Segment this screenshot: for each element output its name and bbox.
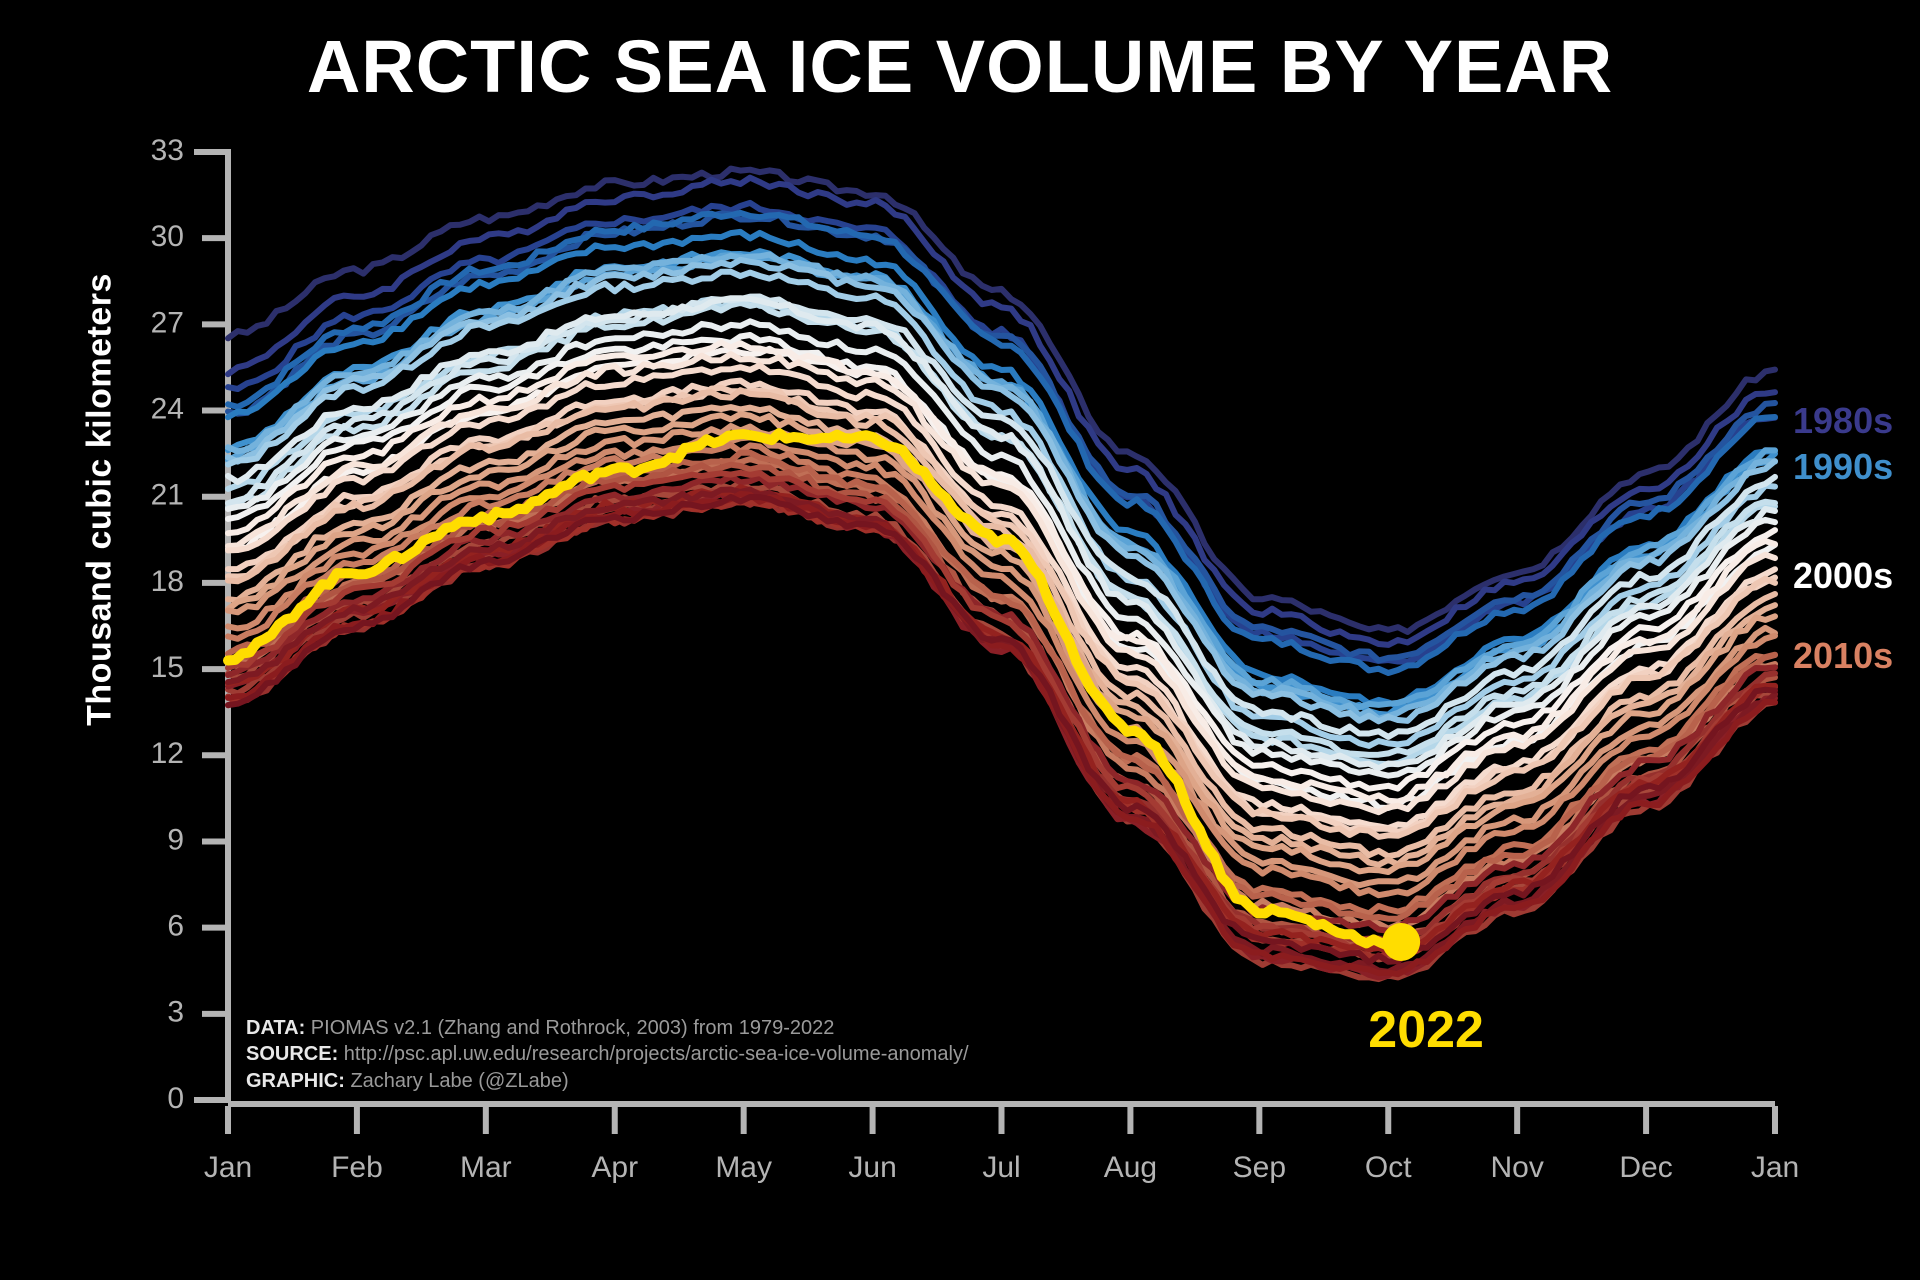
x-axis-tick-label: May xyxy=(715,1151,772,1184)
x-axis-tick-label: Aug xyxy=(1104,1151,1157,1184)
legend-label-2010s: 2010s xyxy=(1793,635,1893,676)
legend-label-2000s: 2000s xyxy=(1793,555,1893,596)
chart-canvas: ARCTIC SEA ICE VOLUME BY YEAR Thousand c… xyxy=(0,0,1920,1280)
y-axis-tick-label: 3 xyxy=(167,996,184,1029)
credits-block: DATA: PIOMAS v2.1 (Zhang and Rothrock, 2… xyxy=(246,1015,969,1094)
x-axis-tick-label: Jan xyxy=(204,1151,252,1184)
credits-data-key: DATA: xyxy=(246,1017,305,1039)
y-axis-tick-label: 15 xyxy=(151,651,184,684)
y-axis-tick-label: 18 xyxy=(151,565,184,598)
y-axis-tick-label: 12 xyxy=(151,737,184,770)
x-axis-tick-label: Nov xyxy=(1490,1151,1543,1184)
y-axis-tick-label: 6 xyxy=(167,910,184,943)
legend-label-1990s: 1990s xyxy=(1793,446,1893,487)
y-axis-tick-label: 30 xyxy=(151,220,184,253)
y-axis-tick-label: 9 xyxy=(167,823,184,856)
x-axis-tick-label: Oct xyxy=(1365,1151,1412,1184)
x-axis-tick-label: Apr xyxy=(591,1151,638,1184)
credits-data-line: DATA: PIOMAS v2.1 (Zhang and Rothrock, 2… xyxy=(246,1015,969,1041)
x-axis-tick-label: Sep xyxy=(1233,1151,1286,1184)
x-axis-tick-label: Dec xyxy=(1619,1151,1672,1184)
y-axis-tick-label: 24 xyxy=(151,392,184,425)
series-lines xyxy=(228,169,1775,980)
x-axis-tick-label: Jan xyxy=(1751,1151,1799,1184)
credits-source-value[interactable]: http://psc.apl.uw.edu/research/projects/… xyxy=(338,1043,968,1065)
legend-label-1980s: 1980s xyxy=(1793,400,1893,441)
credits-graphic-value: Zachary Labe (@ZLabe) xyxy=(345,1070,569,1092)
credits-source-line: SOURCE: http://psc.apl.uw.edu/research/p… xyxy=(246,1041,969,1067)
highlight-endpoint-dot xyxy=(1382,923,1420,961)
y-axis-tick-label: 27 xyxy=(151,306,184,339)
y-axis-tick-label: 0 xyxy=(167,1082,184,1115)
x-axis-tick-label: Jun xyxy=(848,1151,896,1184)
x-axis-tick-label: Jul xyxy=(982,1151,1020,1184)
highlight-year-label: 2022 xyxy=(1368,1001,1484,1059)
credits-data-value: PIOMAS v2.1 (Zhang and Rothrock, 2003) f… xyxy=(305,1017,834,1039)
credits-graphic-key: GRAPHIC: xyxy=(246,1070,345,1092)
credits-source-key: SOURCE: xyxy=(246,1043,338,1065)
series-line-2005 xyxy=(228,426,1775,885)
x-axis-tick-label: Mar xyxy=(460,1151,512,1184)
y-axis-tick-label: 33 xyxy=(151,134,184,167)
y-axis-tick-label: 21 xyxy=(151,479,184,512)
x-axis-tick-label: Feb xyxy=(331,1151,383,1184)
credits-graphic-line: GRAPHIC: Zachary Labe (@ZLabe) xyxy=(246,1068,969,1094)
